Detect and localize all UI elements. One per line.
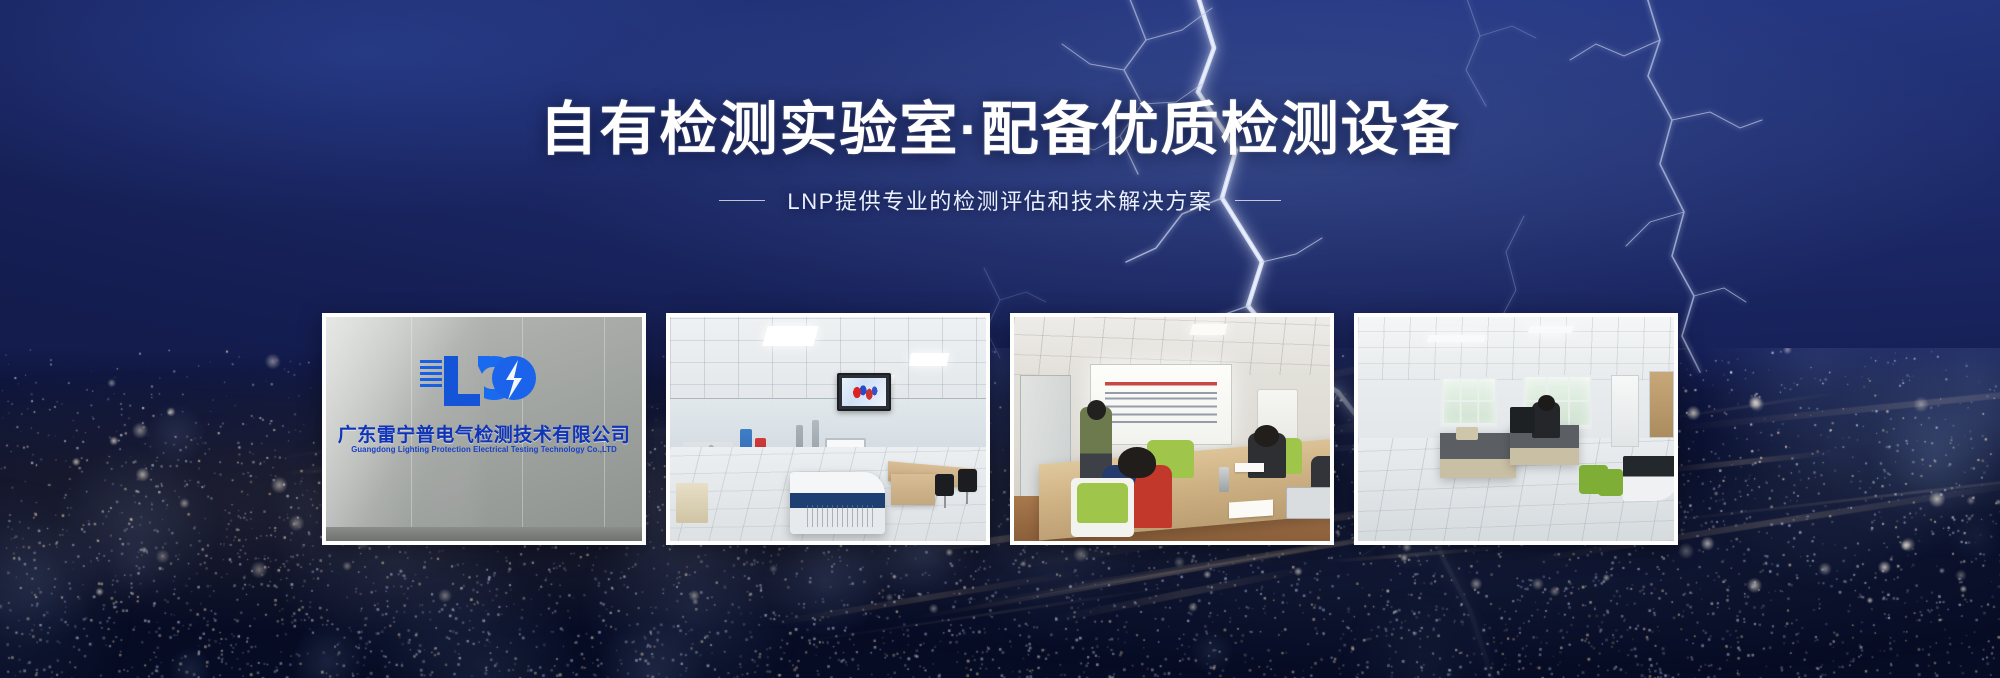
wood-shelf: [1649, 371, 1674, 438]
lnp-logo-icon: [418, 350, 550, 410]
ceiling-light: [1190, 324, 1228, 335]
company-name-cn: 广东雷宁普电气检测技术有限公司: [326, 420, 642, 447]
control-console: [790, 472, 885, 535]
document-papers: [1235, 463, 1263, 472]
desk-box: [1456, 427, 1478, 440]
visitor-chair: [1598, 469, 1623, 496]
office-chair: [958, 469, 977, 491]
ceiling-light: [762, 326, 818, 346]
rule-left-icon: [719, 200, 765, 201]
hero-banner: 自有检测实验室·配备优质检测设备 LNP提供专业的检测评估和技术解决方案: [0, 0, 2000, 678]
photo-image: [1358, 317, 1674, 541]
console-vents: [807, 505, 877, 526]
page-subtitle: LNP提供专业的检测评估和技术解决方案: [787, 184, 1212, 216]
wall-tv: [837, 373, 891, 411]
office-window: [1440, 377, 1497, 426]
laptop: [1286, 487, 1330, 518]
gallery-photo-hv-test-lab[interactable]: [666, 313, 990, 545]
storage-cabinet: [1611, 375, 1639, 447]
thermos: [1219, 467, 1228, 492]
photo-image: 广东雷宁普电气检测技术有限公司 Guangdong Lighting Prote…: [326, 317, 642, 541]
photo-image: [670, 317, 986, 541]
person-head: [1118, 447, 1156, 478]
gallery-photo-company-signage[interactable]: 广东雷宁普电气检测技术有限公司 Guangdong Lighting Prote…: [322, 313, 646, 545]
person-head: [1087, 400, 1106, 420]
office-chair: [935, 474, 954, 496]
subhead-row: LNP提供专业的检测评估和技术解决方案: [0, 184, 2000, 216]
meeting-chair: [1077, 483, 1128, 523]
rule-right-icon: [1235, 200, 1281, 201]
gallery-photo-open-office[interactable]: [1354, 313, 1678, 545]
company-name-en: Guangdong Lighting Protection Electrical…: [331, 445, 638, 454]
reception-counter: [1623, 456, 1674, 501]
page-title: 自有检测实验室·配备优质检测设备: [0, 96, 2000, 164]
floor-strip: [326, 527, 642, 541]
tv-slide-content: [842, 378, 886, 406]
gallery-photo-meeting-room[interactable]: [1010, 313, 1334, 545]
photo-image: [1014, 317, 1330, 541]
ceiling-light: [909, 353, 950, 366]
side-table: [676, 483, 708, 523]
workbench-cabinet: [891, 474, 935, 505]
ceiling-grid: [1358, 317, 1674, 380]
headline-block: 自有检测实验室·配备优质检测设备 LNP提供专业的检测评估和技术解决方案: [0, 96, 2000, 216]
photo-gallery: 广东雷宁普电气检测技术有限公司 Guangdong Lighting Prote…: [322, 313, 1678, 545]
desktop-monitor: [1510, 407, 1535, 434]
ceiling-light: [1528, 326, 1574, 333]
office-desk: [1440, 433, 1516, 478]
document-papers: [1229, 499, 1273, 518]
slide-content: [1105, 382, 1217, 431]
ceiling-light: [1426, 335, 1485, 342]
